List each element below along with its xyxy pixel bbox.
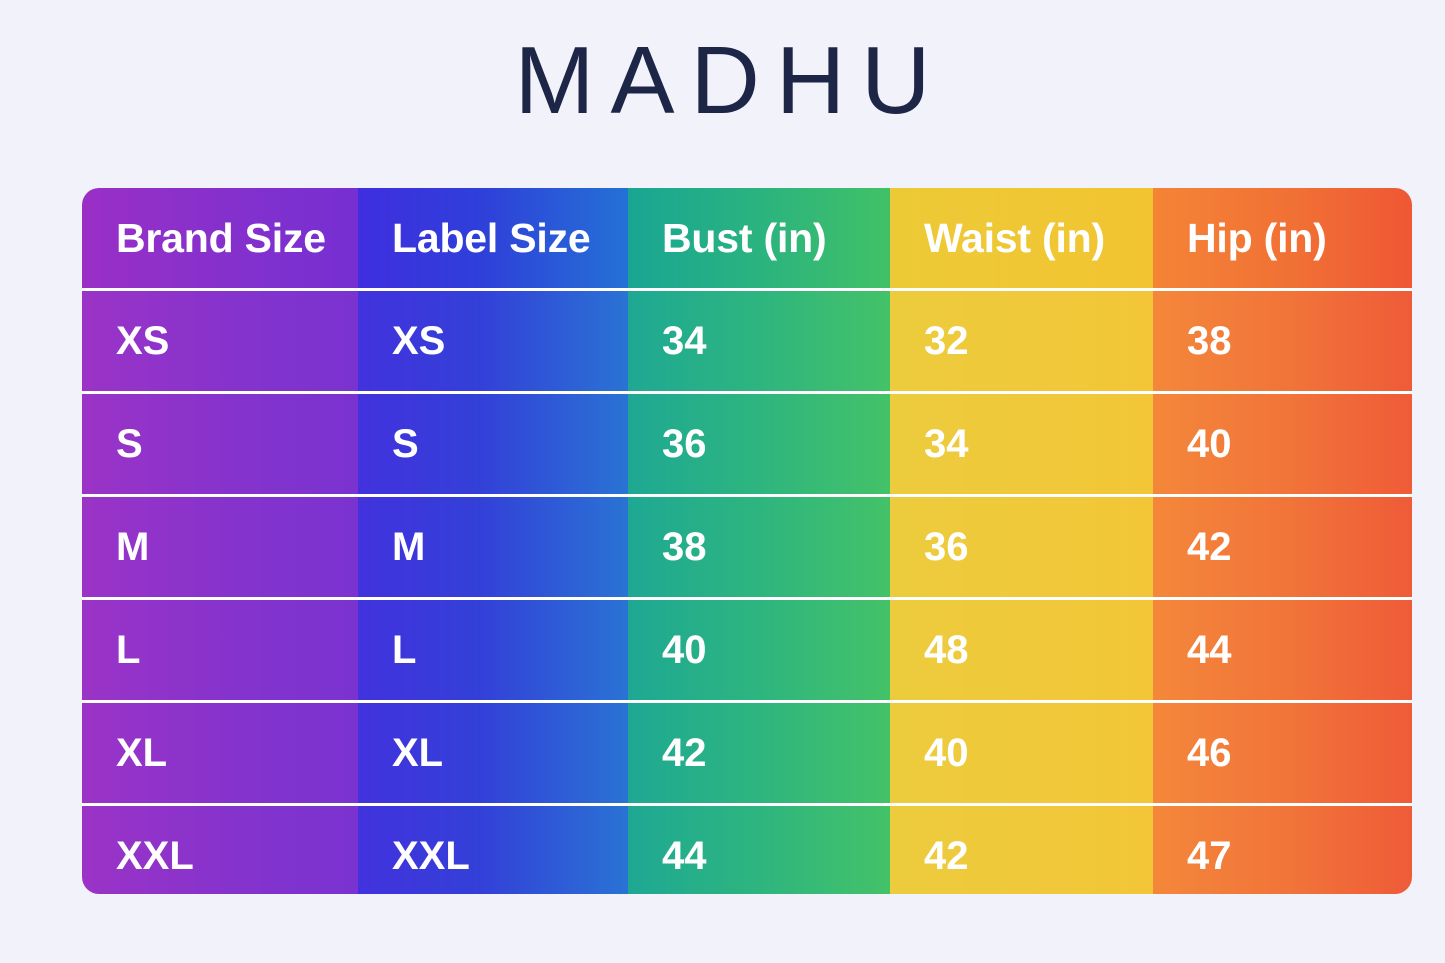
cell-waist: 42 [890,806,1153,894]
cell-waist: 48 [890,600,1153,700]
cell-hip: 46 [1153,703,1412,803]
table-row: XL XL 42 40 46 [82,703,1412,803]
cell-label-size: M [358,497,628,597]
cell-bust: 36 [628,394,890,494]
cell-waist: 36 [890,497,1153,597]
cell-hip: 44 [1153,600,1412,700]
column-header-bust: Bust (in) [628,188,890,288]
cell-bust: 44 [628,806,890,894]
cell-bust: 42 [628,703,890,803]
cell-hip: 38 [1153,291,1412,391]
cell-waist: 34 [890,394,1153,494]
cell-brand-size: XL [82,703,358,803]
table-row: M M 38 36 42 [82,497,1412,597]
cell-label-size: XXL [358,806,628,894]
cell-hip: 40 [1153,394,1412,494]
cell-bust: 40 [628,600,890,700]
cell-waist: 40 [890,703,1153,803]
size-chart-page: MADHU Brand Size Label Size Bust (in) Wa… [0,0,1445,963]
table-row: S S 36 34 40 [82,394,1412,494]
cell-hip: 47 [1153,806,1412,894]
cell-label-size: XL [358,703,628,803]
cell-brand-size: XS [82,291,358,391]
table-row: XS XS 34 32 38 [82,291,1412,391]
cell-brand-size: XXL [82,806,358,894]
table-row: L L 40 48 44 [82,600,1412,700]
cell-bust: 38 [628,497,890,597]
cell-label-size: L [358,600,628,700]
cell-hip: 42 [1153,497,1412,597]
cell-brand-size: L [82,600,358,700]
column-header-label-size: Label Size [358,188,628,288]
table-header-row: Brand Size Label Size Bust (in) Waist (i… [82,188,1412,288]
size-chart-table: Brand Size Label Size Bust (in) Waist (i… [82,188,1412,894]
table-row: XXL XXL 44 42 47 [82,806,1412,894]
cell-bust: 34 [628,291,890,391]
column-header-brand-size: Brand Size [82,188,358,288]
page-title: MADHU [0,28,1445,134]
cell-label-size: S [358,394,628,494]
column-header-waist: Waist (in) [890,188,1153,288]
column-header-hip: Hip (in) [1153,188,1412,288]
cell-waist: 32 [890,291,1153,391]
cell-label-size: XS [358,291,628,391]
cell-brand-size: M [82,497,358,597]
cell-brand-size: S [82,394,358,494]
